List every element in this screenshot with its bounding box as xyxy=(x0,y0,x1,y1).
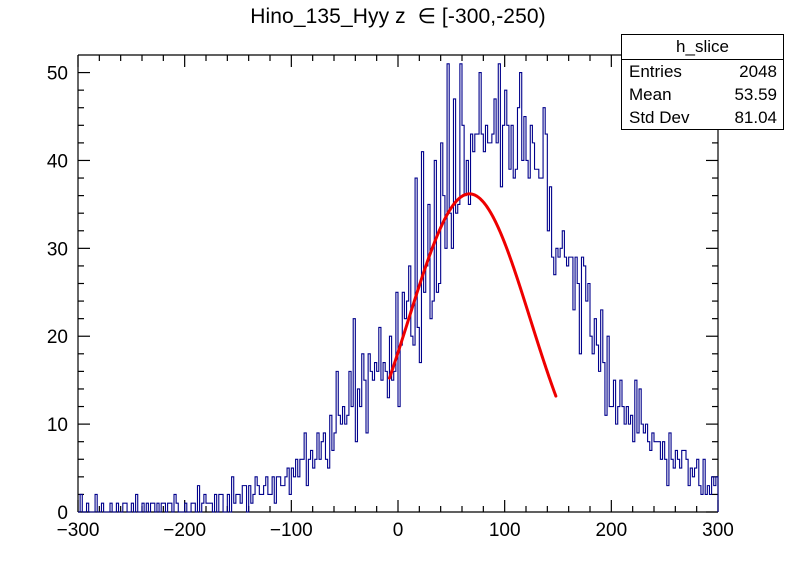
stats-box-title: h_slice xyxy=(622,35,783,60)
y-tick-label: 50 xyxy=(47,64,68,85)
stats-rows: Entries2048Mean53.59Std Dev81.04 xyxy=(622,60,783,129)
stats-key: Mean xyxy=(629,84,672,105)
stats-value: 53.59 xyxy=(734,84,777,105)
x-tick-label: −200 xyxy=(163,520,206,541)
y-tick-label: 30 xyxy=(47,239,68,260)
x-tick-label: 200 xyxy=(595,520,627,541)
x-axis-tick-labels: −300−200−1000100200300 xyxy=(57,520,734,541)
y-tick-label: 20 xyxy=(47,327,68,348)
stats-key: Std Dev xyxy=(629,107,689,128)
stats-value: 2048 xyxy=(739,61,777,82)
stats-row: Entries2048 xyxy=(622,60,783,83)
x-tick-label: −100 xyxy=(270,520,313,541)
y-tick-label: 0 xyxy=(57,503,68,524)
stats-row: Mean53.59 xyxy=(622,83,783,106)
histogram-series xyxy=(78,64,718,512)
y-axis-tick-labels: 01020304050 xyxy=(47,64,68,524)
stats-key: Entries xyxy=(629,61,682,82)
x-tick-label: 300 xyxy=(702,520,734,541)
stats-value: 81.04 xyxy=(734,107,777,128)
y-tick-label: 40 xyxy=(47,151,68,172)
stats-row: Std Dev81.04 xyxy=(622,106,783,129)
y-tick-label: 10 xyxy=(47,415,68,436)
x-tick-label: 0 xyxy=(393,520,404,541)
root-canvas: Hino_135_Hyy z ∈ [-300,-250) −300−200−10… xyxy=(0,0,796,572)
stats-box[interactable]: h_slice Entries2048Mean53.59Std Dev81.04 xyxy=(621,34,784,130)
gaussian-fit-curve xyxy=(389,194,555,396)
x-tick-label: 100 xyxy=(489,520,521,541)
